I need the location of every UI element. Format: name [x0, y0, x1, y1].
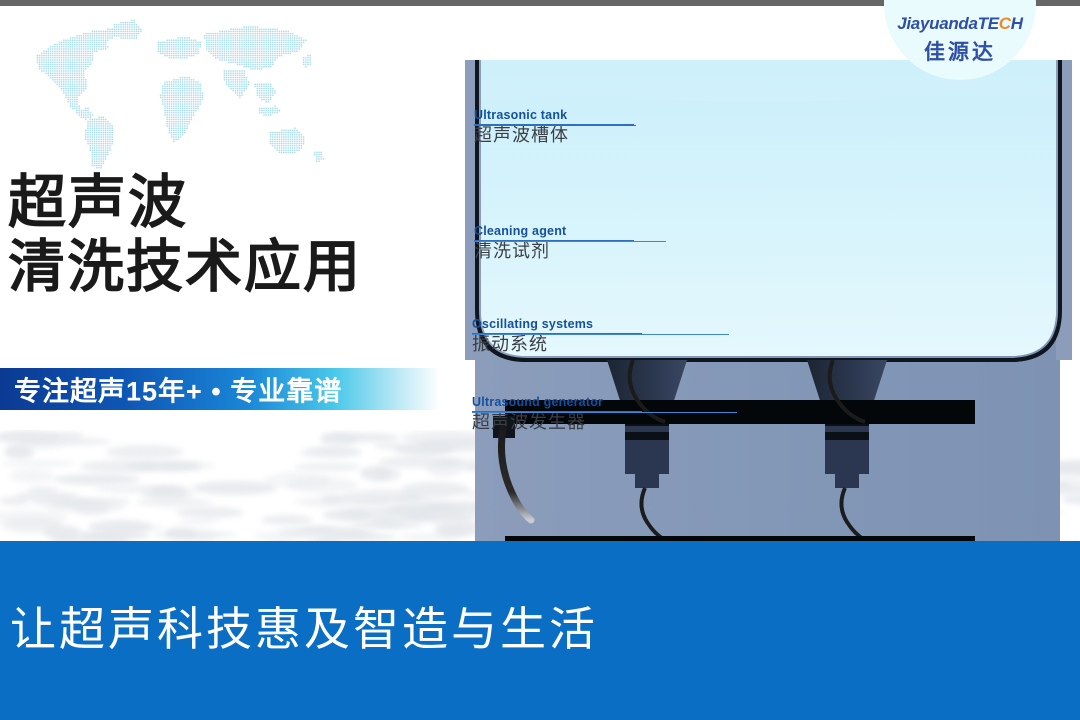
- callout-cn-label: 超声波发生器: [472, 412, 642, 434]
- headline-line-2: 清洗技术应用: [8, 237, 362, 297]
- callout-cleaning-agent: Cleaning agent 清洗试剂: [474, 224, 634, 263]
- callout-en-label: Oscillating systems: [472, 317, 642, 331]
- logo-latin-c: C: [999, 14, 1011, 33]
- page-title: 超声波 清洗技术应用: [8, 172, 362, 298]
- leader-line-cleaning-agent: [474, 241, 666, 242]
- leader-line-ultrasonic-tank: [474, 125, 636, 126]
- logo-latin-h: H: [1011, 14, 1023, 33]
- dotted-world-map: [18, 12, 358, 188]
- logo-latin-wordmark: JiayuandaTECH: [884, 14, 1036, 34]
- callout-en-label: Ultrasound generator: [472, 395, 642, 409]
- callout-ultrasonic-tank: Ultrasonic tank 超声波槽体: [474, 108, 634, 147]
- callout-cn-label: 超声波槽体: [474, 125, 634, 147]
- callout-cn-label: 振动系统: [472, 334, 642, 356]
- callout-oscillating-systems: Oscillating systems 振动系统: [472, 317, 642, 356]
- poster-canvas: Ultrasonic tank 超声波槽体 Cleaning agent 清洗试…: [0, 0, 1080, 720]
- bottom-banner: 让超声科技惠及智造与生活: [0, 541, 1080, 720]
- callout-ultrasound-generator: Ultrasound generator 超声波发生器: [472, 395, 642, 434]
- tagline-badge: 专注超声15年+ • 专业靠谱: [0, 368, 440, 410]
- leader-line-oscillating-systems: [472, 334, 729, 335]
- brand-logo[interactable]: JiayuandaTECH 佳源达: [884, 0, 1036, 80]
- banner-slogan: 让超声科技惠及智造与生活: [10, 593, 598, 659]
- logo-latin-prefix: Jiayuanda: [897, 14, 977, 33]
- logo-chinese-wordmark: 佳源达: [884, 36, 1036, 66]
- logo-latin-te: TE: [978, 14, 999, 33]
- callout-cn-label: 清洗试剂: [474, 241, 634, 263]
- headline-line-1: 超声波: [8, 172, 362, 233]
- callout-en-label: Cleaning agent: [474, 224, 634, 238]
- tagline-text: 专注超声15年+ • 专业靠谱: [14, 370, 342, 409]
- callout-en-label: Ultrasonic tank: [474, 108, 634, 122]
- leader-line-ultrasound-generator: [472, 412, 737, 413]
